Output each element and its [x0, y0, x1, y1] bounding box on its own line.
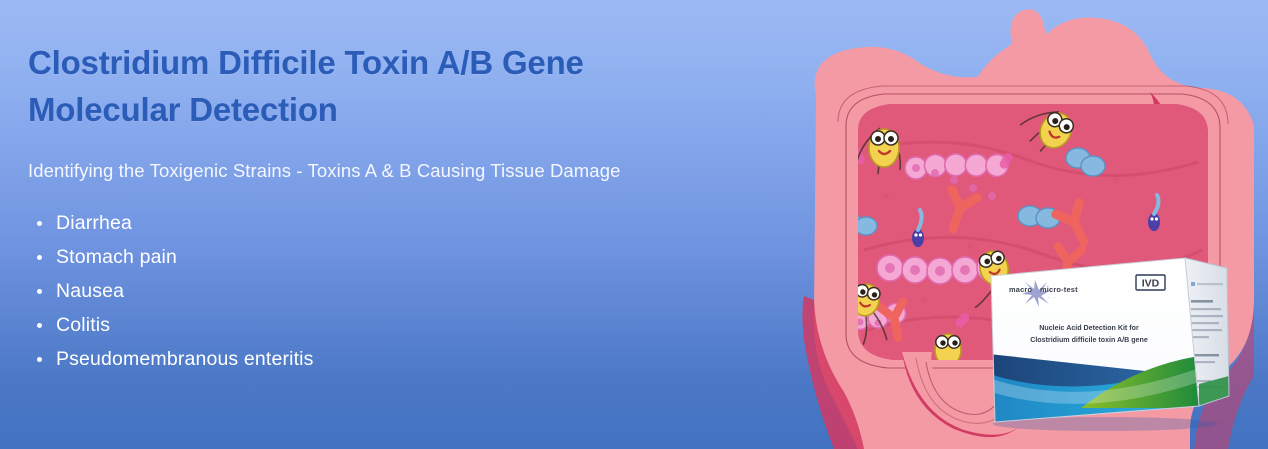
list-item: Colitis: [28, 314, 818, 337]
svg-text:IVD: IVD: [1142, 277, 1160, 289]
page-title-line-1: Clostridium Difficile Toxin A/B Gene: [28, 44, 584, 81]
list-item: Stomach pain: [28, 246, 818, 269]
text-content-block: Clostridium Difficile Toxin A/B Gene Mol…: [28, 40, 818, 382]
list-item: Pseudomembranous enteritis: [28, 348, 818, 371]
page-title-line-2: Molecular Detection: [28, 91, 338, 128]
svg-text:Clostridium difficile toxin A/: Clostridium difficile toxin A/B gene: [1030, 336, 1148, 344]
banner-root: Clostridium Difficile Toxin A/B Gene Mol…: [0, 0, 1268, 449]
svg-text:macro: macro: [1009, 285, 1032, 294]
page-title: Clostridium Difficile Toxin A/B Gene Mol…: [28, 40, 818, 134]
symptom-label: Stomach pain: [56, 246, 177, 268]
box-front-face: macro micro-test · · · · IVD Nucleic Aci…: [989, 258, 1199, 424]
svg-text:micro-test: micro-test: [1040, 285, 1078, 294]
ivd-badge: IVD: [1136, 275, 1165, 290]
product-box: macro micro-test · · · · IVD Nucleic Aci…: [985, 258, 1235, 430]
symptom-label: Nausea: [56, 280, 124, 302]
symptom-label: Pseudomembranous enteritis: [56, 348, 314, 370]
subtitle: Identifying the Toxigenic Strains - Toxi…: [28, 160, 818, 182]
svg-text:· · · ·: · · · ·: [1037, 295, 1057, 300]
svg-text:Nucleic Acid Detection Kit for: Nucleic Acid Detection Kit for: [1039, 324, 1139, 332]
symptom-label: Diarrhea: [56, 212, 132, 234]
list-item: Diarrhea: [28, 212, 818, 235]
symptom-list: Diarrhea Stomach pain Nausea Colitis Pse…: [28, 212, 818, 371]
symptom-label: Colitis: [56, 314, 110, 336]
list-item: Nausea: [28, 280, 818, 303]
